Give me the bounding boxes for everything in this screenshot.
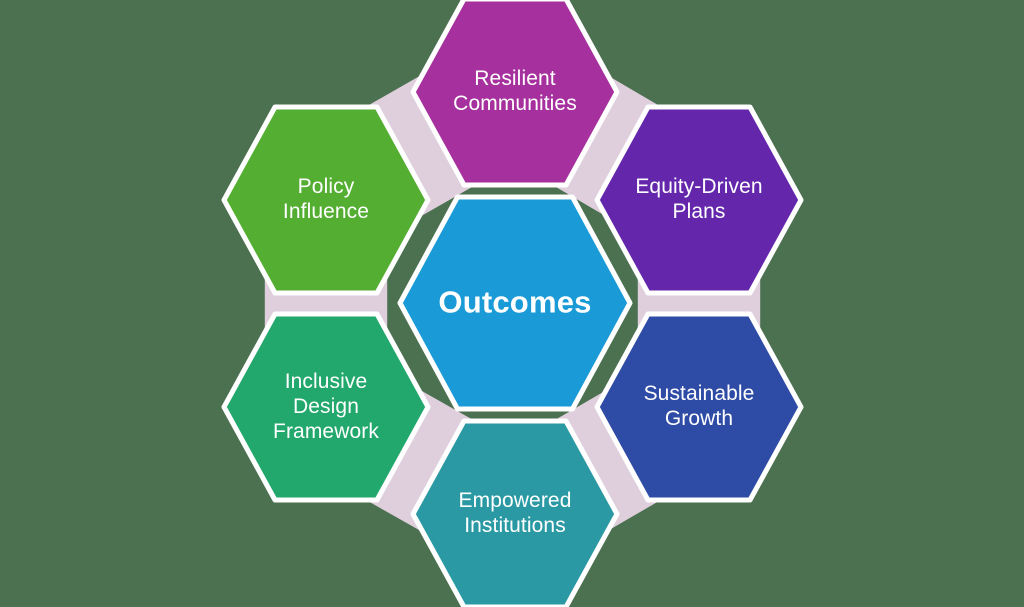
hexagon-diagram: Resilient CommunitiesEquity-Driven Plans… (0, 0, 1024, 607)
hexagon-diagram-canvas (0, 0, 1024, 607)
hexagon-outcomes[interactable] (400, 197, 630, 409)
